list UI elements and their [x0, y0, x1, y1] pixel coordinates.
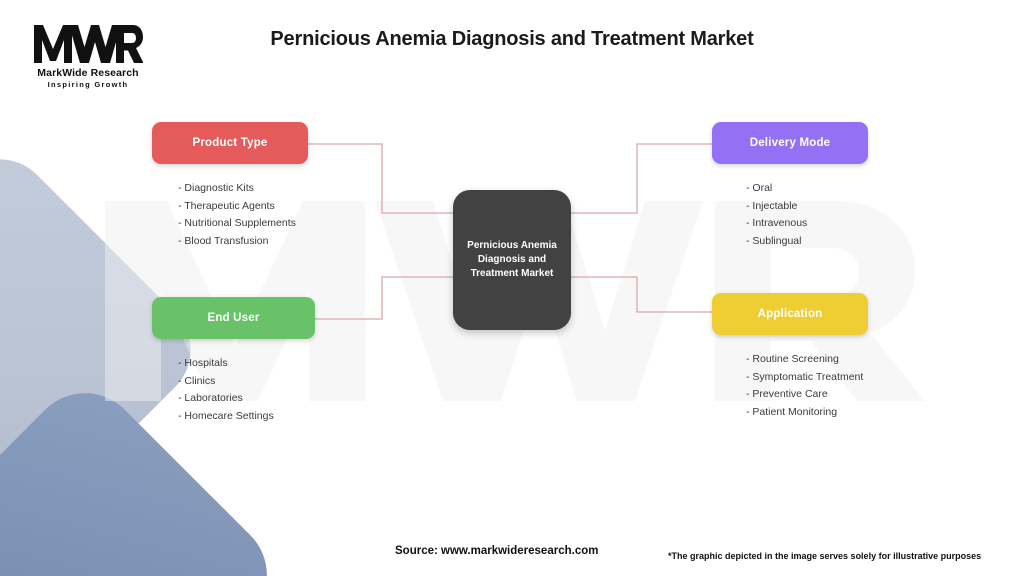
source-text: Source: www.markwideresearch.com [395, 545, 598, 557]
list-item: - Homecare Settings [178, 408, 315, 426]
list-item: - Nutritional Supplements [178, 215, 308, 233]
list-item: - Patient Monitoring [746, 404, 868, 422]
list-item: - Therapeutic Agents [178, 198, 308, 216]
category-application[interactable]: Application - Routine Screening - Sympto… [712, 293, 868, 421]
list-item: - Blood Transfusion [178, 233, 308, 251]
category-title-application[interactable]: Application [712, 293, 868, 335]
disclaimer-text: *The graphic depicted in the image serve… [668, 551, 981, 561]
hub-line-3: Treatment Market [471, 268, 554, 279]
list-item: - Laboratories [178, 390, 315, 408]
list-item: - Routine Screening [746, 351, 868, 369]
list-item: - Injectable [746, 198, 868, 216]
connector-end-user [315, 277, 455, 319]
connector-delivery-mode [569, 144, 712, 213]
center-hub[interactable]: Pernicious Anemia Diagnosis and Treatmen… [453, 190, 571, 330]
connector-application [569, 277, 712, 312]
category-items-end-user: - Hospitals - Clinics - Laboratories - H… [152, 355, 315, 425]
category-items-application: - Routine Screening - Symptomatic Treatm… [712, 351, 868, 421]
category-end-user[interactable]: End User - Hospitals - Clinics - Laborat… [152, 297, 315, 425]
list-item: - Clinics [178, 373, 315, 391]
list-item: - Intravenous [746, 215, 868, 233]
center-hub-label: Pernicious Anemia Diagnosis and Treatmen… [459, 239, 565, 281]
list-item: - Preventive Care [746, 386, 868, 404]
category-title-delivery-mode[interactable]: Delivery Mode [712, 122, 868, 164]
list-item: - Hospitals [178, 355, 315, 373]
hub-line-1: Pernicious Anemia [467, 240, 557, 251]
list-item: - Diagnostic Kits [178, 180, 308, 198]
list-item: - Symptomatic Treatment [746, 369, 868, 387]
category-items-delivery-mode: - Oral - Injectable - Intravenous - Subl… [712, 180, 868, 250]
category-delivery-mode[interactable]: Delivery Mode - Oral - Injectable - Intr… [712, 122, 868, 250]
list-item: - Sublingual [746, 233, 868, 251]
connector-product-type [308, 144, 455, 213]
category-items-product-type: - Diagnostic Kits - Therapeutic Agents -… [152, 180, 308, 250]
list-item: - Oral [746, 180, 868, 198]
hub-line-2: Diagnosis and [478, 254, 546, 265]
category-title-product-type[interactable]: Product Type [152, 122, 308, 164]
infographic-canvas: MarkWide Research Inspiring Growth Perni… [0, 0, 1024, 576]
category-product-type[interactable]: Product Type - Diagnostic Kits - Therape… [152, 122, 308, 250]
category-title-end-user[interactable]: End User [152, 297, 315, 339]
